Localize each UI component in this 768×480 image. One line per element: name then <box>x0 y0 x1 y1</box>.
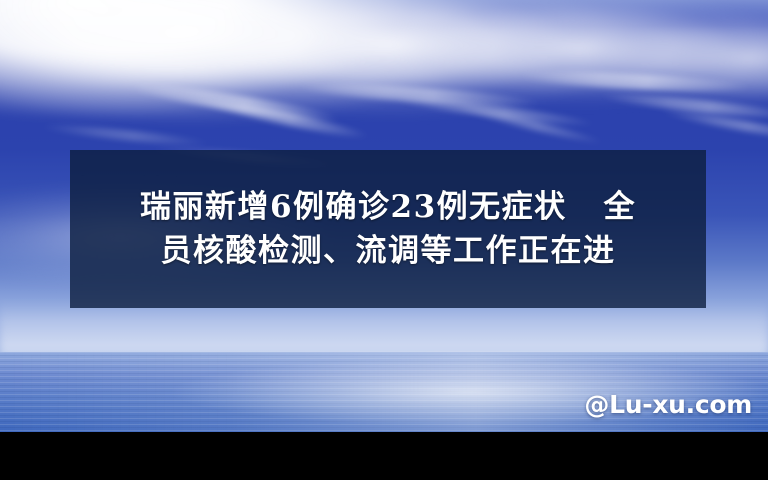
bottom-black-bar <box>0 432 768 480</box>
site-watermark: @Lu-xu.com <box>584 390 752 419</box>
caption-overlay-box: 瑞丽新增6例确诊23例无症状 全 员核酸检测、流调等工作正在进 <box>70 150 706 308</box>
screenshot-stage: 瑞丽新增6例确诊23例无症状 全 员核酸检测、流调等工作正在进 @Lu-xu.c… <box>0 0 768 480</box>
caption-line-2: 员核酸检测、流调等工作正在进 <box>161 229 616 273</box>
caption-line-1: 瑞丽新增6例确诊23例无症状 全 <box>140 185 636 229</box>
